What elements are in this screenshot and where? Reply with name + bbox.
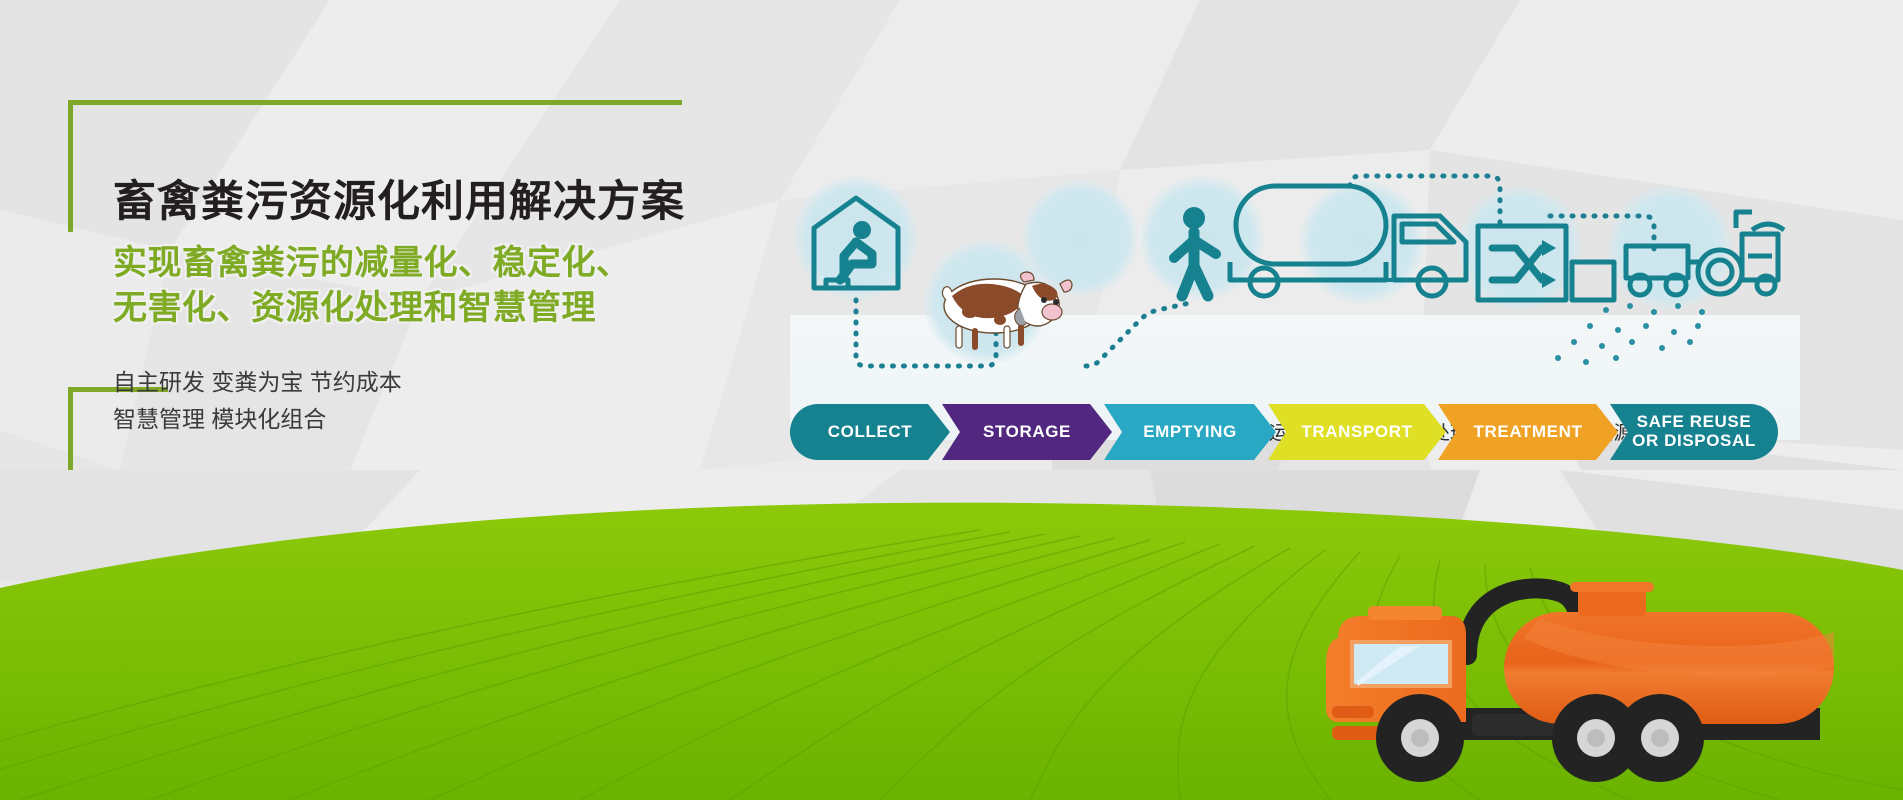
subheadline-line-1: 实现畜禽粪污的减量化、稳定化、 bbox=[113, 241, 733, 285]
chevron-transport-label: TRANSPORT bbox=[1301, 423, 1412, 442]
chevron-treatment[interactable]: TREATMENT bbox=[1438, 404, 1618, 460]
promo-banner: 畜禽粪污资源化利用解决方案 实现畜禽粪污的减量化、稳定化、 无害化、资源化处理和… bbox=[0, 0, 1903, 800]
chevron-treatment-label: TREATMENT bbox=[1474, 423, 1583, 442]
farm-landscape-illustration bbox=[0, 470, 1903, 800]
chevron-emptying-label: EMPTYING bbox=[1143, 423, 1237, 442]
diagram-graphics bbox=[790, 130, 1850, 450]
subheadline-line-2: 无害化、资源化处理和智慧管理 bbox=[113, 286, 733, 330]
chevron-safe-reuse[interactable]: SAFE REUSE OR DISPOSAL bbox=[1610, 404, 1778, 460]
process-diagram: 收集 储存 清空 运输 处理 资源再利用 bbox=[790, 130, 1850, 450]
chevron-emptying[interactable]: EMPTYING bbox=[1104, 404, 1276, 460]
chevron-transport[interactable]: TRANSPORT bbox=[1268, 404, 1446, 460]
page-title: 畜禽粪污资源化利用解决方案 bbox=[113, 178, 733, 227]
chevron-collect-label: COLLECT bbox=[828, 423, 912, 442]
chevron-safe-reuse-label-line1: SAFE REUSE bbox=[1632, 413, 1756, 432]
feature-list: 自主研发 变粪为宝 节约成本 智慧管理 模块化组合 bbox=[113, 364, 733, 439]
chevron-storage[interactable]: STORAGE bbox=[942, 404, 1112, 460]
chevron-storage-label: STORAGE bbox=[983, 423, 1071, 442]
chevron-safe-reuse-label-line2: OR DISPOSAL bbox=[1632, 432, 1756, 451]
subheadline: 实现畜禽粪污的减量化、稳定化、 无害化、资源化处理和智慧管理 bbox=[113, 241, 733, 329]
headline-block: 畜禽粪污资源化利用解决方案 实现畜禽粪污的减量化、稳定化、 无害化、资源化处理和… bbox=[113, 178, 733, 438]
feature-line-2: 智慧管理 模块化组合 bbox=[113, 401, 733, 438]
feature-line-1: 自主研发 变粪为宝 节约成本 bbox=[113, 364, 733, 401]
process-chevron-bar: COLLECT STORAGE EMPTYING TRANSPORT TREAT… bbox=[790, 404, 1778, 460]
spread-dots bbox=[1555, 303, 1705, 365]
chevron-collect[interactable]: COLLECT bbox=[790, 404, 950, 460]
